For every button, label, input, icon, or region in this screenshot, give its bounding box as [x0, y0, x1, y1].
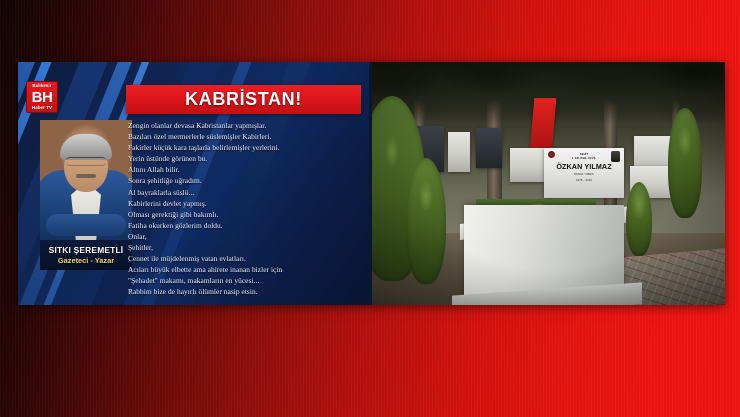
poem-line: Altını Allah bilir. [128, 164, 360, 175]
logo-top-text: Balıkesir [32, 84, 51, 88]
article-card: Balıkesir BH Haber TV SITKI ŞEREMETLİ [18, 62, 725, 305]
headstone-line-1: ŞEHİT [580, 153, 588, 156]
poem-line: Cennet ile müjdelenmiş vatan evlatları. [128, 253, 360, 264]
poem-line: Onlar, [128, 231, 360, 242]
emblem-icon [548, 151, 555, 158]
blue-graphic-panel: Balıkesir BH Haber TV SITKI ŞEREMETLİ [18, 62, 369, 305]
logo-main-text: BH [32, 90, 53, 105]
poem-line: Sonra şehitliğe uğradım. [128, 175, 360, 186]
portrait-moustache [76, 174, 96, 178]
channel-logo: Balıkesir BH Haber TV [26, 81, 58, 113]
poem-line: Kabirlerini devlet yapmış. [128, 198, 360, 209]
poem-line: Zengin olanlar devasa Kabristanlar yapmı… [128, 120, 360, 131]
portrait-photo-on-stone [611, 151, 620, 162]
poem-line: Al bayraklarla süslü... [128, 187, 360, 198]
author-role: Gazeteci - Yazar [58, 257, 114, 265]
poem-body: Zengin olanlar devasa Kabristanlar yapmı… [128, 120, 360, 298]
large-turkish-flag-icon [530, 98, 557, 152]
author-name-plate: SITKI ŞEREMETLİ Gazeteci - Yazar [40, 240, 132, 270]
glasses-icon [66, 157, 106, 166]
headstone-subtext: BOSNA / KIBRIS [574, 173, 593, 176]
poem-line: Fakirler küçük kara taşlarla belirlemişl… [128, 142, 360, 153]
poem-line: Fatiha okurken gözlerim doldu. [128, 220, 360, 231]
main-headstone: ŞEHİT J. KD. ASB. ÜÇVŞ. ÖZKAN YILMAZ BOS… [544, 148, 624, 198]
article-title-ribbon: KABRİSTAN! [126, 85, 361, 114]
headstone-name: ÖZKAN YILMAZ [556, 162, 611, 171]
poem-line: Bazıları özel mermerlerle süslemişler Ka… [128, 131, 360, 142]
poem-line: Rabbim bize de hayırlı ölümler nasip ets… [128, 286, 360, 297]
cypress-bush [626, 182, 652, 256]
author-name: SITKI ŞEREMETLİ [49, 246, 124, 255]
poem-line: Şehitler, [128, 242, 360, 253]
poem-line: Yerin üstünde görünen bu. [128, 153, 360, 164]
page-title: KABRİSTAN! [185, 89, 302, 110]
poem-line: Olması gerektiği gibi bakımlı. [128, 209, 360, 220]
poem-line: Acıları büyük elbette ama ahirete inanan… [128, 264, 360, 275]
headstone-line-2: J. KD. ASB. ÜÇVŞ. [572, 157, 597, 160]
background-gravestone [448, 132, 470, 172]
author-block: SITKI ŞEREMETLİ Gazeteci - Yazar [40, 120, 132, 270]
cypress-bush [668, 108, 702, 218]
logo-bottom-text: Haber TV [32, 106, 52, 110]
cypress-bush [406, 158, 446, 284]
author-portrait-image [40, 120, 132, 240]
poem-line: "Şehadet" makamı, makamların en yücesi..… [128, 275, 360, 286]
headstone-dates: 1978 - 2016 [576, 179, 592, 182]
background-gravestone [510, 148, 544, 182]
cemetery-photograph: ŞEHİT J. KD. ASB. ÜÇVŞ. ÖZKAN YILMAZ BOS… [369, 62, 725, 305]
screenshot-root: Balıkesir BH Haber TV SITKI ŞEREMETLİ [0, 0, 740, 417]
portrait-folded-arms [46, 214, 126, 236]
background-gravestone [476, 128, 502, 168]
